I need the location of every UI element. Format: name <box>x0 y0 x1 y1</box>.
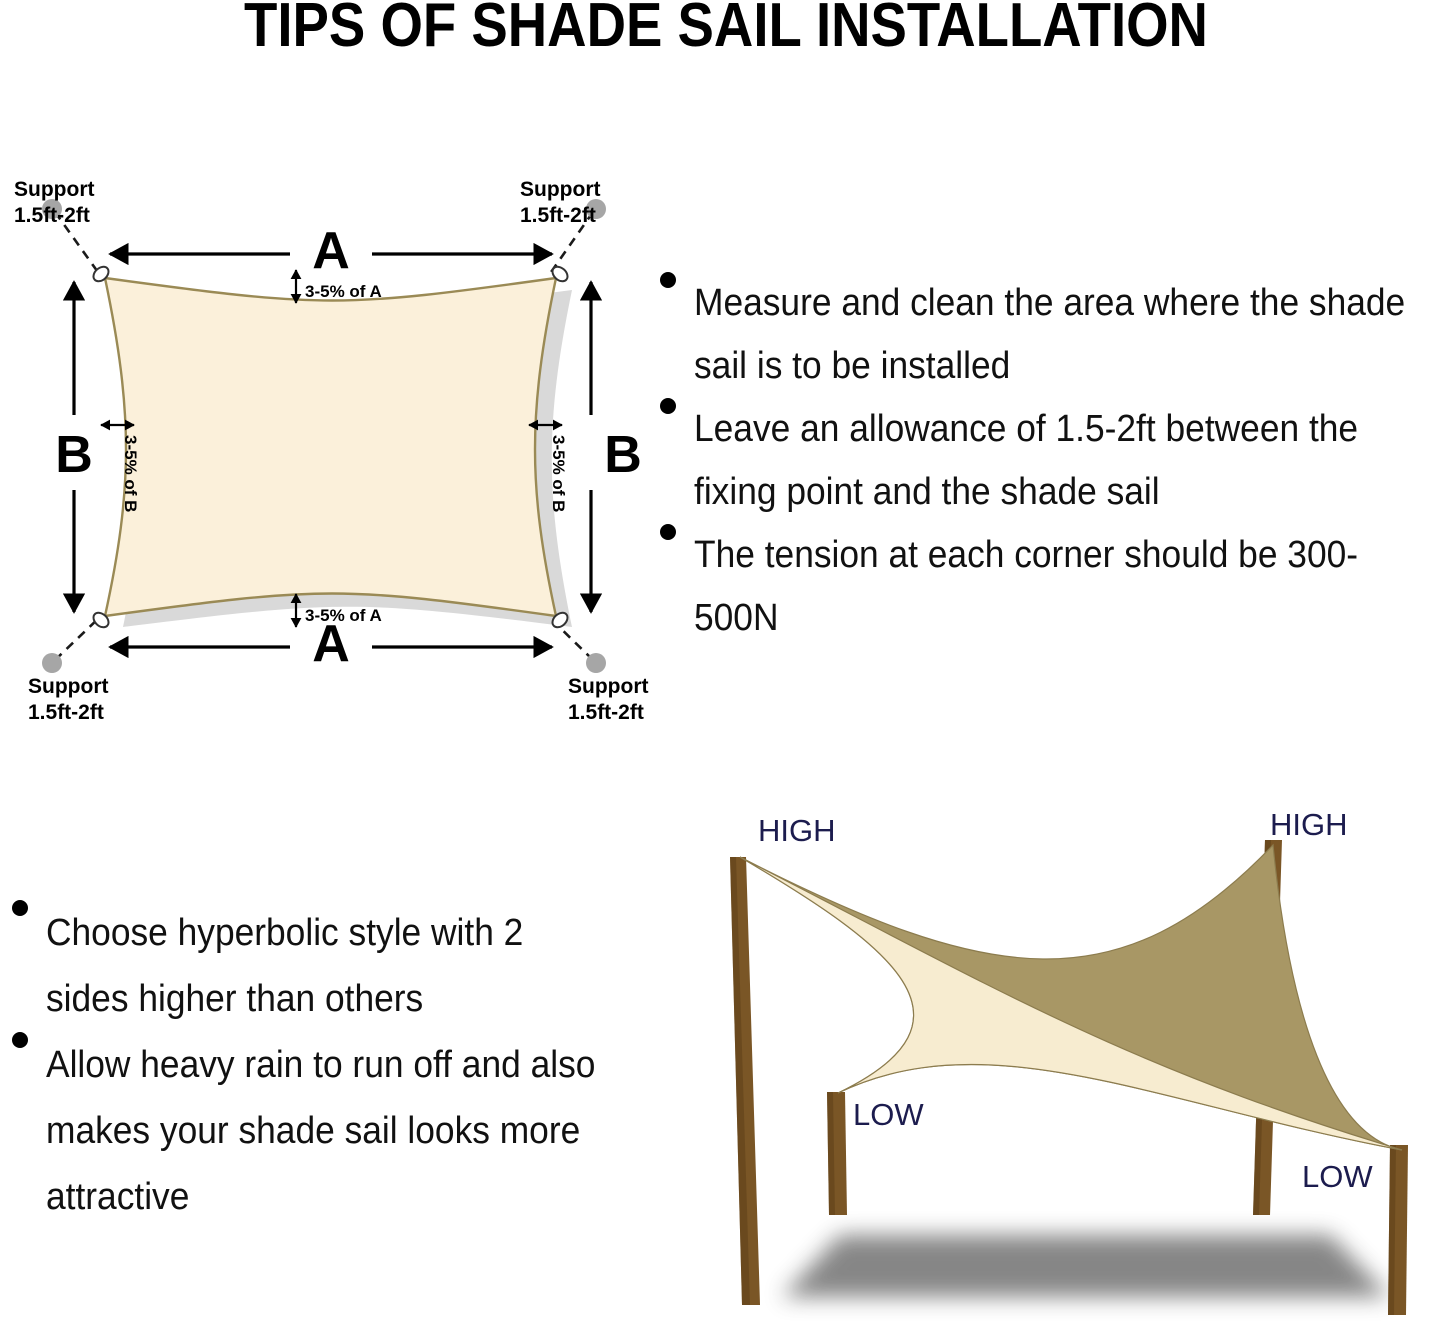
bullet-dot-icon <box>660 398 676 414</box>
dimension-label-top-a: A <box>312 222 350 280</box>
bullet-dot-icon <box>660 272 676 288</box>
hyperbolic-sail-illustration: HIGH HIGH LOW LOW <box>690 805 1452 1325</box>
ground-shadow <box>782 1235 1390 1297</box>
post-front-left-low <box>827 1092 847 1215</box>
dimension-label-left-b: B <box>55 426 93 484</box>
support-label-bottom-left-line2: 1.5ft-2ft <box>28 701 104 724</box>
hyperbolic-style-tips-list: Choose hyperbolic style with 2 sides hig… <box>4 900 644 1230</box>
curve-depth-label-left: 3-5% of B <box>121 435 140 512</box>
support-label-top-right-line1: Support <box>520 178 600 201</box>
support-label-bottom-right-line1: Support <box>568 675 648 698</box>
tip-text: Measure and clean the area where the sha… <box>694 272 1427 398</box>
page-title: TIPS OF SHADE SAIL INSTALLATION <box>87 0 1365 57</box>
tip-text: Allow heavy rain to run off and also mak… <box>46 1032 602 1230</box>
installation-tips-list: Measure and clean the area where the sha… <box>652 272 1452 650</box>
list-item: Leave an allowance of 1.5-2ft between th… <box>652 398 1452 524</box>
list-item: The tension at each corner should be 300… <box>652 524 1452 650</box>
support-label-bottom-right-line2: 1.5ft-2ft <box>568 701 644 724</box>
curve-depth-label-right: 3-5% of B <box>549 435 568 512</box>
list-item: Measure and clean the area where the sha… <box>652 272 1452 398</box>
bullet-dot-icon <box>12 900 28 916</box>
support-label-top-left-line2: 1.5ft-2ft <box>14 204 90 227</box>
support-label-top-left-line1: Support <box>14 178 94 201</box>
corner-label-front-left-low: LOW <box>853 1097 924 1132</box>
tip-text: Choose hyperbolic style with 2 sides hig… <box>46 900 602 1032</box>
tip-text: The tension at each corner should be 300… <box>694 524 1427 650</box>
curve-depth-label-bottom: 3-5% of A <box>305 606 382 625</box>
post-back-left-high <box>730 857 760 1305</box>
bullet-dot-icon <box>660 524 676 540</box>
corner-label-front-right-low: LOW <box>1302 1159 1373 1194</box>
rectangular-sail-diagram: A A B B 3-5% of A 3-5% of A <box>0 160 650 730</box>
bullet-dot-icon <box>12 1032 28 1048</box>
post-front-right-low <box>1388 1145 1408 1315</box>
list-item: Allow heavy rain to run off and also mak… <box>4 1032 644 1230</box>
dimension-label-right-b: B <box>604 426 642 484</box>
tip-text: Leave an allowance of 1.5-2ft between th… <box>694 398 1427 524</box>
list-item: Choose hyperbolic style with 2 sides hig… <box>4 900 644 1032</box>
shade-sail-shape <box>105 278 556 616</box>
corner-label-back-left-high: HIGH <box>758 813 836 848</box>
support-label-bottom-left-line1: Support <box>28 675 108 698</box>
corner-label-back-right-high: HIGH <box>1270 807 1348 842</box>
support-label-top-right-line2: 1.5ft-2ft <box>520 204 596 227</box>
curve-depth-label-top: 3-5% of A <box>305 282 382 301</box>
